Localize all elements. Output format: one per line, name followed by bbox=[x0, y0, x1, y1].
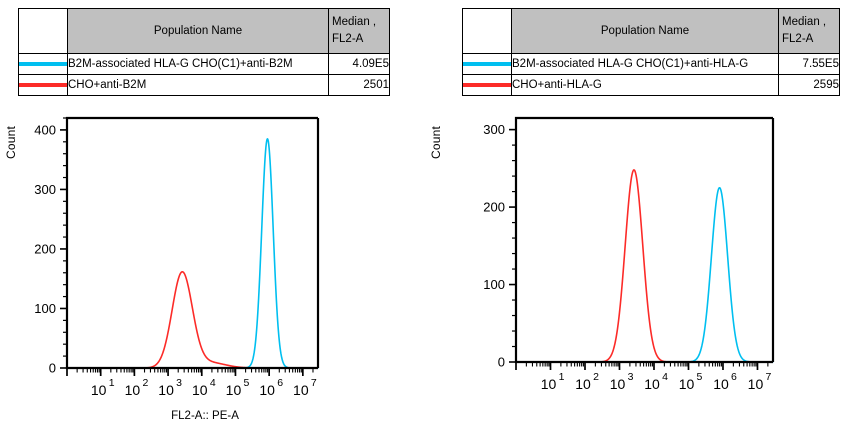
x-axis-tick-label: 106 bbox=[713, 371, 737, 392]
y-axis-tick-label: 0 bbox=[498, 355, 505, 370]
legend-header-median-line2: FL2-A bbox=[779, 31, 839, 48]
legend-table-left: Population Name Median , FL2-A B2M-assoc… bbox=[18, 8, 390, 96]
histogram-svg: 0100200300101102103104105106107 bbox=[445, 104, 850, 404]
y-axis-tick-label: 300 bbox=[483, 122, 505, 137]
x-axis-tick-mantissa: 10 bbox=[679, 376, 695, 392]
x-axis-tick-mantissa: 10 bbox=[158, 382, 174, 398]
legend-header-swatch bbox=[463, 9, 512, 54]
legend-header-median: Median , FL2-A bbox=[779, 9, 840, 54]
legend-header-swatch bbox=[19, 9, 68, 54]
x-axis-tick-label: 105 bbox=[226, 377, 250, 398]
legend-color-swatch bbox=[463, 83, 511, 87]
table-row: CHO+anti-B2M 2501 bbox=[19, 75, 390, 96]
x-axis-tick-label: 104 bbox=[644, 371, 668, 392]
x-axis-tick-mantissa: 10 bbox=[610, 376, 626, 392]
legend-header-median-line2: FL2-A bbox=[329, 31, 389, 48]
y-axis-tick-label: 400 bbox=[34, 122, 56, 137]
histogram-plot-left: 0100200300400101102103104105106107 bbox=[0, 104, 425, 404]
x-axis-tick-exponent: 2 bbox=[142, 377, 148, 389]
x-axis-tick-label: 107 bbox=[748, 371, 772, 392]
x-axis-tick-mantissa: 10 bbox=[541, 376, 557, 392]
legend-header-median-line1: Median , bbox=[779, 14, 839, 31]
legend-swatch-cell bbox=[463, 54, 512, 75]
legend-header-population-name-label: Population Name bbox=[68, 24, 328, 38]
legend-median-value: 4.09E5 bbox=[329, 54, 390, 75]
legend-header-median: Median , FL2-A bbox=[329, 9, 390, 54]
histogram-curve bbox=[67, 272, 318, 368]
x-axis-tick-label: 102 bbox=[125, 377, 149, 398]
x-axis-tick-label: 103 bbox=[158, 377, 182, 398]
plot-frame bbox=[67, 118, 318, 368]
x-axis-tick-mantissa: 10 bbox=[644, 376, 660, 392]
panel-left: Population Name Median , FL2-A B2M-assoc… bbox=[0, 0, 425, 441]
histogram-svg: 0100200300400101102103104105106107 bbox=[0, 104, 425, 404]
x-axis-tick-exponent: 6 bbox=[277, 377, 283, 389]
legend-population-name: CHO+anti-HLA-G bbox=[512, 75, 779, 96]
legend-swatch-cell bbox=[19, 54, 68, 75]
x-axis-tick-exponent: 5 bbox=[244, 377, 250, 389]
x-axis-tick-mantissa: 10 bbox=[259, 382, 275, 398]
x-axis-tick-exponent: 1 bbox=[559, 371, 565, 383]
legend-header-population-name: Population Name bbox=[68, 9, 329, 54]
x-axis-tick-mantissa: 10 bbox=[192, 382, 208, 398]
table-row: B2M-associated HLA-G CHO(C1)+anti-HLA-G … bbox=[463, 54, 840, 75]
x-axis-tick-label: 106 bbox=[259, 377, 283, 398]
legend-median-value: 7.55E5 bbox=[779, 54, 840, 75]
panel-right: Population Name Median , FL2-A B2M-assoc… bbox=[425, 0, 850, 441]
x-axis-tick-mantissa: 10 bbox=[713, 376, 729, 392]
y-axis-tick-label: 0 bbox=[49, 361, 56, 376]
x-axis-tick-label: 103 bbox=[610, 371, 634, 392]
x-axis-tick-exponent: 1 bbox=[109, 377, 115, 389]
y-axis-tick-label: 100 bbox=[34, 301, 56, 316]
y-axis-tick-label: 200 bbox=[483, 200, 505, 215]
x-axis-tick-label: 107 bbox=[293, 377, 317, 398]
x-axis-tick-exponent: 4 bbox=[210, 377, 216, 389]
x-axis-tick-exponent: 3 bbox=[628, 371, 634, 383]
legend-color-swatch bbox=[463, 62, 511, 66]
legend-header-population-name: Population Name bbox=[512, 9, 779, 54]
legend-color-swatch bbox=[19, 83, 67, 87]
legend-population-name: CHO+anti-B2M bbox=[68, 75, 329, 96]
x-axis-tick-label: 102 bbox=[575, 371, 599, 392]
y-axis-tick-label: 200 bbox=[34, 241, 56, 256]
x-axis-tick-mantissa: 10 bbox=[293, 382, 309, 398]
legend-header-population-name-label: Population Name bbox=[512, 24, 778, 38]
x-axis-tick-exponent: 6 bbox=[731, 371, 737, 383]
x-axis-tick-exponent: 5 bbox=[697, 371, 703, 383]
legend-table-body: B2M-associated HLA-G CHO(C1)+anti-HLA-G … bbox=[463, 54, 840, 96]
x-axis-tick-label: 105 bbox=[679, 371, 703, 392]
histogram-curve bbox=[67, 139, 318, 368]
histogram-plot-right: 0100200300101102103104105106107 bbox=[445, 104, 850, 404]
x-axis-tick-mantissa: 10 bbox=[91, 382, 107, 398]
legend-color-swatch bbox=[19, 62, 67, 66]
table-row: CHO+anti-HLA-G 2595 bbox=[463, 75, 840, 96]
legend-median-value: 2595 bbox=[779, 75, 840, 96]
x-axis-tick-label: 104 bbox=[192, 377, 216, 398]
x-axis-tick-mantissa: 10 bbox=[226, 382, 242, 398]
legend-swatch-cell bbox=[19, 75, 68, 96]
legend-median-value: 2501 bbox=[329, 75, 390, 96]
y-axis-title: Count bbox=[429, 126, 445, 159]
legend-population-name: B2M-associated HLA-G CHO(C1)+anti-HLA-G bbox=[512, 54, 779, 75]
legend-header-row: Population Name Median , FL2-A bbox=[19, 9, 390, 54]
x-axis-tick-exponent: 4 bbox=[662, 371, 668, 383]
legend-table-head: Population Name Median , FL2-A bbox=[19, 9, 390, 54]
y-axis-tick-label: 100 bbox=[483, 277, 505, 292]
x-axis-tick-exponent: 3 bbox=[176, 377, 182, 389]
y-axis-tick-label: 300 bbox=[34, 182, 56, 197]
legend-header-median-line1: Median , bbox=[329, 14, 389, 31]
x-axis-tick-label: 101 bbox=[541, 371, 565, 392]
x-axis-tick-exponent: 7 bbox=[311, 377, 317, 389]
x-axis-tick-mantissa: 10 bbox=[125, 382, 141, 398]
legend-table-body: B2M-associated HLA-G CHO(C1)+anti-B2M 4.… bbox=[19, 54, 390, 96]
x-axis-tick-mantissa: 10 bbox=[575, 376, 591, 392]
x-axis-title: FL2-A:: PE-A bbox=[40, 410, 370, 422]
legend-header-row: Population Name Median , FL2-A bbox=[463, 9, 840, 54]
x-axis-tick-exponent: 2 bbox=[593, 371, 599, 383]
x-axis-tick-exponent: 7 bbox=[766, 371, 772, 383]
legend-table-right: Population Name Median , FL2-A B2M-assoc… bbox=[462, 8, 840, 96]
legend-population-name: B2M-associated HLA-G CHO(C1)+anti-B2M bbox=[68, 54, 329, 75]
table-row: B2M-associated HLA-G CHO(C1)+anti-B2M 4.… bbox=[19, 54, 390, 75]
x-axis-tick-label: 101 bbox=[91, 377, 115, 398]
x-axis-tick-mantissa: 10 bbox=[748, 376, 764, 392]
legend-swatch-cell bbox=[463, 75, 512, 96]
legend-table-head: Population Name Median , FL2-A bbox=[463, 9, 840, 54]
